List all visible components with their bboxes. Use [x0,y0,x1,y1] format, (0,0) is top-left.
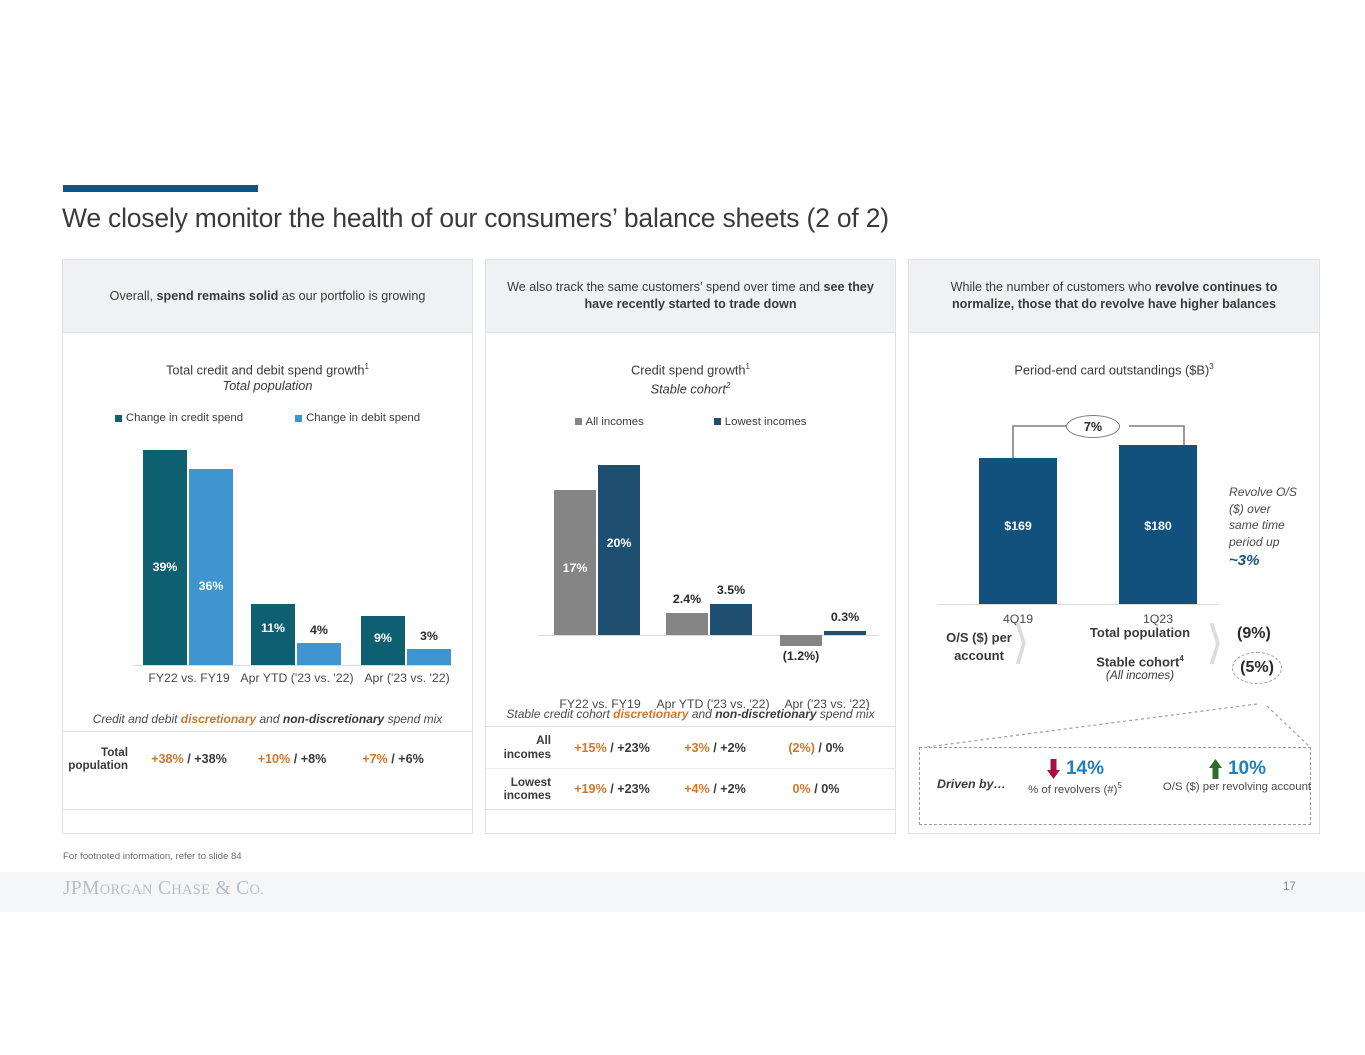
revolve-os-note: Revolve O/S ($) over same time period up… [1229,484,1315,570]
panel-2-mix-table: All incomes +15% / +23% +3% / +2% (2%) /… [486,726,895,809]
bar-label-1q23: $180 [1119,519,1197,533]
panel-1-header-pre: Overall, [110,289,157,303]
table-row: All incomes +15% / +23% +3% / +2% (2%) /… [486,727,895,768]
bar-outstandings-4q19: $169 [979,458,1057,604]
bar-lowest-incomes-2: 0.3% [824,631,866,635]
chart-1-subtitle: Total population [63,378,472,394]
slide-root: { "slide": { "title": "We closely monito… [0,0,1365,1055]
chart-3-title-text: Period-end card outstandings ($B) [1014,362,1209,377]
arrow-up-icon [1208,758,1223,780]
bar-label-4q19: $169 [979,519,1057,533]
panel-3-chart-title: Period-end card outstandings ($B)3 [909,359,1319,378]
mix-note-2-nondisc: non-discretionary [715,707,816,721]
bar-label-all-1: 2.4% [666,592,708,606]
bar-label-lowest-2: 0.3% [824,610,866,624]
panel-3-header-text: While the number of customers who revolv… [929,279,1299,313]
bar-label-credit-0: 39% [143,560,187,574]
driven-by-label: Driven by… [937,777,1006,791]
chart-2-group-0: 17% 20% [554,440,646,635]
panel-1-mix-table: Total population +38% / +38% +10% / +8% … [63,731,472,786]
panel-2-table-bottom-rule [486,809,895,810]
mix-cell-1-1-0: +19% / +23% [560,782,664,796]
title-accent-rule [63,185,258,192]
panel-2-header-text: We also track the same customers’ spend … [506,279,875,313]
bar-label-all-2: (1.2%) [780,649,822,663]
mix-cell-1-1-1: +4% / +2% [664,782,766,796]
bar-label-credit-2: 9% [361,631,405,645]
chart-1-plot: 39% 36% FY22 vs. FY19 11% 4% Apr YTD ('2… [71,440,464,692]
mix-note-1-pre: Credit and debit [93,712,181,726]
mix-note-1-mid: and [256,712,283,726]
chart-1-group-1: 11% 4% [251,440,343,665]
chevron-right-icon-2: ⟩ [1206,619,1224,665]
legend-swatch-icon-lowest-incomes [714,418,721,425]
legend-swatch-icon-credit [115,415,122,422]
bar-debit-0: 36% [189,469,233,665]
mix-note-2-mid: and [689,707,716,721]
flow-value-total-population: (9%) [1237,625,1271,643]
jpmorgan-chase-logo: JPMORGAN CHASE & CO. [63,878,264,900]
bar-credit-2: 9% [361,616,405,665]
bar-label-debit-2: 3% [407,629,451,643]
chart-2-group-1: 2.4% 3.5% [666,440,758,635]
panel-1-chart-title: Total credit and debit spend growth1 Tot… [63,359,472,394]
panel-2-header-pre: We also track the same customers’ spend … [507,280,823,294]
legend-swatch-icon-all-incomes [575,418,582,425]
mix-cell-0-0: +38% / +38% [137,752,241,766]
mix-cell-1-0-2: (2%) / 0% [766,741,866,755]
bar-debit-1: 4% [297,643,341,665]
bar-label-lowest-0: 20% [598,536,640,550]
panel-stable-cohort: We also track the same customers’ spend … [485,259,896,834]
mix-note-2-disc: discretionary [613,707,688,721]
panel-1-header-text: Overall, spend remains solid as our port… [110,288,426,305]
bar-label-all-0: 17% [554,561,596,575]
bar-all-incomes-1: 2.4% [666,613,708,635]
bar-all-incomes-2: (1.2%) [780,635,822,646]
panel-1-header-bold: spend remains solid [157,289,279,303]
mix-note-2-pre: Stable credit cohort [506,707,613,721]
chart-1-axis [133,665,452,666]
bar-lowest-incomes-1: 3.5% [710,604,752,635]
flow-mid-label-all-incomes: (All incomes) [1047,666,1233,684]
chart-2-title-text: Credit spend growth [631,362,746,377]
legend-item-lowest-incomes: Lowest incomes [714,416,807,428]
legend-label-debit: Change in debit spend [306,412,420,424]
chart-1-group-2: 9% 3% [361,440,453,665]
panel-1-mix-note: Credit and debit discretionary and non-d… [63,712,472,726]
chart-1-cat-0: FY22 vs. FY19 [133,671,245,685]
chart-2-zero-axis [538,635,879,636]
chevron-right-icon-1: ⟩ [1012,619,1030,665]
mix-cell-0-1: +10% / +8% [241,752,343,766]
metric-caption-revolvers: % of revolvers (#)5 [1009,781,1141,796]
chart-1-legend: Change in credit spend Change in debit s… [63,412,472,424]
legend-item-credit-spend: Change in credit spend [115,412,243,424]
bar-outstandings-1q23: $180 [1119,445,1197,604]
mix-note-1-disc: discretionary [181,712,256,726]
table-row: Total population +38% / +38% +10% / +8% … [63,732,472,786]
bar-label-credit-1: 11% [251,621,295,635]
chart-2-title-footnote-marker: 1 [746,362,750,371]
page-title: We closely monitor the health of our con… [62,203,889,234]
bar-lowest-incomes-0: 20% [598,465,640,635]
legend-label-lowest-incomes: Lowest incomes [725,416,807,428]
metric-percent-of-revolvers: 14% % of revolvers (#)5 [1009,758,1141,796]
panel-2-chart-title: Credit spend growth1 Stable cohort2 [486,359,895,398]
mix-row-label-lowest-incomes: Lowest incomes [486,776,560,803]
bar-debit-2: 3% [407,649,451,665]
bar-credit-0: 39% [143,450,187,665]
footnote-reference: For footnoted information, refer to slid… [63,851,242,862]
bar-label-lowest-1: 3.5% [710,583,752,597]
mix-row-label-total-population: Total population [63,746,137,773]
chart-3-plot: 7% $169 4Q19 $180 1Q23 Revolve O/S ($) o… [909,392,1319,632]
chart-2-legend: All incomes Lowest incomes [486,416,895,428]
chart-3-title-footnote-marker: 3 [1209,362,1213,371]
chart-2-plot: 17% 20% FY22 vs. FY19 2.4% 3.5% Apr YTD … [494,440,887,690]
metric-value-revolvers: 14% [1066,758,1104,780]
mix-note-2-post: spend mix [817,707,875,721]
panel-3-header: While the number of customers who revolv… [909,260,1319,333]
chart-2-group-2: (1.2%) 0.3% [780,440,872,635]
panel-spend-growth: Overall, spend remains solid as our port… [62,259,473,834]
mix-note-1-nondisc: non-discretionary [283,712,384,726]
flow-value-stable-cohort: (5%) [1232,652,1282,684]
chart-1-cat-2: Apr ('23 vs. '22) [355,671,459,685]
panel-1-header: Overall, spend remains solid as our port… [63,260,472,333]
table-row: Lowest incomes +19% / +23% +4% / +2% 0% … [486,768,895,809]
chart-1-title-text: Total credit and debit spend growth [166,362,364,377]
panel-2-mix-note: Stable credit cohort discretionary and n… [486,707,895,721]
bar-label-debit-0: 36% [189,579,233,593]
metric-os-per-revolving-account: 10% O/S ($) per revolving account [1157,758,1317,793]
bar-label-debit-1: 4% [297,623,341,637]
mix-cell-0-2: +7% / +6% [343,752,443,766]
legend-label-credit: Change in credit spend [126,412,243,424]
chart-1-title-footnote-marker: 1 [365,362,369,371]
mix-note-1-post: spend mix [384,712,442,726]
metric-caption-os-per-account: O/S ($) per revolving account [1157,781,1317,793]
mix-cell-1-0-0: +15% / +23% [560,741,664,755]
legend-label-all-incomes: All incomes [586,416,644,428]
chart-3-axis [937,604,1219,605]
panel-2-header: We also track the same customers’ spend … [486,260,895,333]
panel-3-header-pre: While the number of customers who [951,280,1155,294]
chart-1-cat-1: Apr YTD ('23 vs. '22) [237,671,357,685]
panel-1-table-bottom-rule [63,809,472,810]
legend-swatch-icon-debit [295,415,302,422]
legend-item-debit-spend: Change in debit spend [295,412,420,424]
mix-row-label-all-incomes: All incomes [486,734,560,761]
chart-1-group-0: 39% 36% [143,440,235,665]
mix-cell-1-0-1: +3% / +2% [664,741,766,755]
arrow-down-icon [1046,758,1061,780]
legend-item-all-incomes: All incomes [575,416,644,428]
revolve-os-value: ~3% [1229,553,1315,570]
metric-value-os-per-account: 10% [1228,758,1266,780]
bar-all-incomes-0: 17% [554,490,596,635]
panel-1-header-post: as our portfolio is growing [278,289,425,303]
page-number: 17 [1283,881,1296,893]
bar-credit-1: 11% [251,604,295,665]
chart-2-subtitle: Stable cohort2 [486,378,895,397]
mix-cell-1-1-2: 0% / 0% [766,782,866,796]
panel-card-outstandings: While the number of customers who revolv… [908,259,1320,834]
